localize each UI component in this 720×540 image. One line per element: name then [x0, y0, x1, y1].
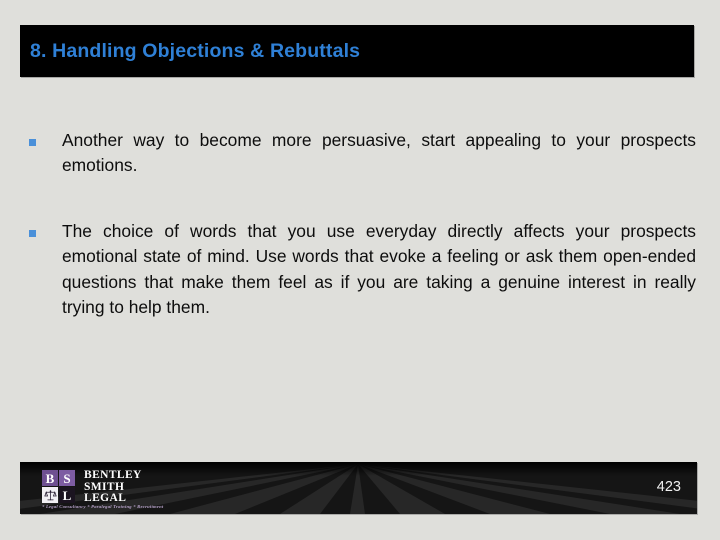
bullet-square-icon: [29, 230, 36, 237]
scales-of-justice-icon: [42, 487, 58, 503]
slide-body: Another way to become more persuasive, s…: [20, 128, 696, 320]
bullet-square-icon: [29, 139, 36, 146]
logo-word-bentley: BENTLEY: [84, 470, 142, 482]
logo-tile-s: S: [59, 470, 75, 486]
list-item: Another way to become more persuasive, s…: [20, 128, 696, 179]
logo-tile-l: L: [59, 487, 75, 503]
page-number: 423: [657, 479, 681, 495]
logo-wordmark: BENTLEY SMITH LEGAL: [84, 470, 142, 505]
slide: 8. Handling Objections & Rebuttals Anoth…: [0, 0, 720, 540]
page-title: 8. Handling Objections & Rebuttals: [20, 40, 360, 63]
company-logo: B S: [42, 470, 142, 505]
list-item: The choice of words that you use everyda…: [20, 219, 696, 321]
logo-tile-b: B: [42, 470, 58, 486]
slide-title-bar: 8. Handling Objections & Rebuttals: [20, 25, 694, 77]
bullet-text: Another way to become more persuasive, s…: [62, 128, 696, 179]
logo-tagline: * Legal Consultancy * Paralegal Training…: [42, 504, 163, 509]
logo-mark: B S: [42, 470, 75, 503]
bullet-text: The choice of words that you use everyda…: [62, 219, 696, 321]
slide-footer: B S: [20, 462, 697, 514]
